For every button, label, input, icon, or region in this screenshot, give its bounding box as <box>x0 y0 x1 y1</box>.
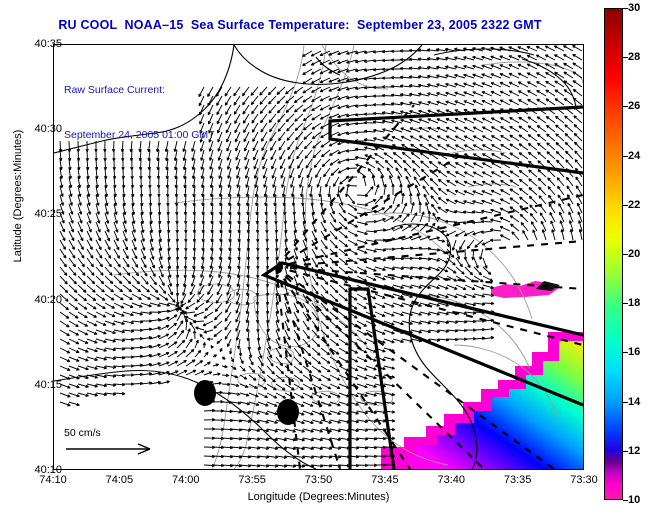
current-vector <box>482 74 492 78</box>
current-vector <box>527 55 537 60</box>
current-vector <box>78 294 87 301</box>
current-vector <box>289 159 294 169</box>
current-vector <box>217 339 222 344</box>
current-vector <box>240 366 245 371</box>
current-vector <box>236 321 240 331</box>
current-vector <box>559 203 564 213</box>
current-vector <box>541 221 546 231</box>
current-vector <box>528 117 537 123</box>
current-vector <box>87 330 97 334</box>
current-vector <box>393 312 404 316</box>
current-vector <box>226 123 231 133</box>
current-vector <box>105 276 113 284</box>
current-vector <box>438 198 447 205</box>
current-vector <box>168 276 172 287</box>
current-vector <box>473 191 483 195</box>
current-vector <box>346 159 357 162</box>
current-vector <box>547 152 555 159</box>
current-vector <box>568 203 573 213</box>
current-vector <box>269 105 276 113</box>
current-vector <box>500 65 510 69</box>
current-vector <box>464 83 474 87</box>
current-vector <box>87 366 98 369</box>
current-vector <box>548 187 555 196</box>
current-vector <box>575 160 582 169</box>
current-vector <box>215 303 222 312</box>
current-vector <box>519 179 528 186</box>
current-vector <box>177 340 185 348</box>
current-vector <box>536 55 546 60</box>
current-vector <box>177 360 187 366</box>
current-vector <box>574 125 582 133</box>
current-vector <box>252 123 258 132</box>
current-vector <box>465 285 475 290</box>
current-vector <box>509 100 519 105</box>
current-vector <box>527 73 537 78</box>
current-vector <box>401 119 412 123</box>
current-vector <box>574 133 582 141</box>
current-vector <box>555 116 564 123</box>
current-vector <box>105 249 111 258</box>
current-vector <box>482 145 492 150</box>
current-vector <box>258 402 268 406</box>
current-vector <box>273 177 276 188</box>
current-vector <box>234 96 240 105</box>
colorbar-tick-label: 16 <box>628 346 640 358</box>
current-vector <box>375 330 385 334</box>
x-axis-label: Longitude (Degrees:Minutes) <box>53 491 584 503</box>
current-vector <box>307 168 312 178</box>
current-vector <box>437 119 447 123</box>
current-vector <box>60 312 69 318</box>
current-vector <box>531 222 537 231</box>
current-vector <box>482 200 493 204</box>
current-vector <box>519 126 528 132</box>
current-vector <box>69 330 79 335</box>
current-vector <box>87 249 93 258</box>
current-vector <box>482 101 492 106</box>
current-vector <box>132 294 142 300</box>
current-vector <box>123 249 128 259</box>
current-vector <box>277 96 285 104</box>
current-vector <box>245 168 249 179</box>
current-vector <box>69 222 74 232</box>
current-vector <box>96 339 107 343</box>
current-vector <box>114 249 120 259</box>
current-vector <box>464 145 474 150</box>
current-vector <box>321 357 330 363</box>
current-vector <box>473 127 483 132</box>
current-vector <box>384 339 394 343</box>
colorbar-tick-label: 14 <box>628 396 640 408</box>
current-vector <box>218 141 222 151</box>
current-vector <box>60 231 65 241</box>
current-vector <box>575 151 582 159</box>
x-tick-label: 73:40 <box>437 474 465 486</box>
current-vector <box>324 168 331 177</box>
current-vector <box>510 144 519 150</box>
current-vector <box>357 384 368 388</box>
current-vector <box>357 267 367 272</box>
current-vector <box>546 116 555 123</box>
current-vector <box>193 320 204 323</box>
current-vector <box>437 127 447 132</box>
current-vector <box>528 135 537 141</box>
current-vector <box>482 56 493 60</box>
current-vector <box>236 150 240 160</box>
current-vector <box>519 117 528 123</box>
current-vector <box>60 348 70 353</box>
current-vector <box>501 144 510 150</box>
current-vector <box>254 159 258 169</box>
current-vector <box>168 332 177 339</box>
current-vector <box>222 392 231 395</box>
current-vector <box>330 222 337 231</box>
current-vector <box>235 114 240 124</box>
current-vector <box>114 240 119 250</box>
current-vector <box>123 240 128 250</box>
current-vector <box>69 285 77 293</box>
current-vector <box>491 118 501 123</box>
current-vector <box>480 249 483 260</box>
current-vector <box>261 114 268 123</box>
current-vector <box>481 231 492 234</box>
current-vector <box>321 222 326 232</box>
current-vector <box>393 294 404 298</box>
current-vector <box>346 167 357 170</box>
current-vector <box>320 105 330 110</box>
scale-legend: 50 cm/s <box>64 427 184 461</box>
current-vector <box>410 136 420 141</box>
current-vector <box>491 91 501 96</box>
current-vector <box>460 240 465 250</box>
current-vector <box>545 46 555 51</box>
current-vector <box>455 231 465 236</box>
current-vector <box>263 168 267 178</box>
current-vector <box>294 366 302 373</box>
current-vector <box>96 312 106 317</box>
current-vector <box>464 101 474 105</box>
current-vector <box>330 384 340 389</box>
current-vector <box>96 249 102 258</box>
current-vector <box>285 330 290 340</box>
current-vector <box>375 312 385 316</box>
current-vector <box>428 110 438 114</box>
current-vector <box>244 132 249 142</box>
current-vector <box>114 294 123 300</box>
current-vector <box>500 82 510 87</box>
current-vector <box>537 117 546 123</box>
current-vector <box>114 285 123 292</box>
current-vector <box>123 276 131 284</box>
current-vector <box>330 375 340 380</box>
colorbar-gradient <box>605 9 622 499</box>
current-vector <box>321 240 327 249</box>
current-vector <box>530 213 537 222</box>
current-vector <box>366 366 376 370</box>
current-vector <box>96 285 104 292</box>
current-vector <box>329 78 339 82</box>
current-vector <box>105 321 115 325</box>
y-axis-label: Latitude (Degrees:Minutes) <box>12 86 24 306</box>
current-vector <box>533 230 537 240</box>
current-vector <box>222 383 230 386</box>
current-vector <box>260 105 267 114</box>
current-vector <box>69 267 76 276</box>
current-vector <box>281 168 285 178</box>
current-vector <box>510 153 519 159</box>
current-vector <box>366 267 376 271</box>
current-vector <box>573 63 582 69</box>
current-vector <box>238 339 241 349</box>
current-vector <box>270 141 276 151</box>
current-vector <box>455 127 465 132</box>
current-vector <box>60 393 70 397</box>
current-vector <box>303 78 312 84</box>
annotation-block: Raw Surface Current: September 24, 2005 … <box>64 53 215 173</box>
current-vector <box>207 338 213 341</box>
current-vector <box>491 56 501 60</box>
current-vector <box>500 227 510 232</box>
current-vector <box>482 191 492 195</box>
current-vector <box>195 350 201 357</box>
current-vector <box>565 151 573 159</box>
current-vector <box>277 87 285 95</box>
current-vector <box>168 285 173 295</box>
current-vector <box>321 276 328 285</box>
current-vector <box>521 222 528 231</box>
current-vector <box>403 160 411 168</box>
current-vector <box>298 159 303 169</box>
current-vector <box>320 78 330 83</box>
current-vector <box>114 312 124 316</box>
current-vector <box>159 285 166 294</box>
current-vector <box>511 224 520 231</box>
current-vector <box>280 159 285 169</box>
current-vector <box>159 362 169 366</box>
current-vector <box>419 202 422 213</box>
current-vector <box>204 352 208 357</box>
current-vector <box>464 181 474 186</box>
current-vector <box>286 114 294 122</box>
current-vector <box>261 123 267 132</box>
current-vector <box>69 402 80 406</box>
current-vector <box>542 230 546 241</box>
current-vector <box>474 258 478 268</box>
current-vector <box>105 222 109 232</box>
current-vector <box>321 285 328 294</box>
current-vector <box>60 366 70 370</box>
current-vector <box>537 126 546 133</box>
current-vector <box>249 384 257 388</box>
current-vector <box>267 366 274 374</box>
current-vector <box>384 303 394 307</box>
current-vector <box>330 330 339 337</box>
current-vector <box>123 285 132 292</box>
current-vector <box>311 60 321 65</box>
current-vector <box>78 339 88 343</box>
current-vector <box>159 294 168 300</box>
current-vector <box>294 312 299 322</box>
current-vector <box>69 240 75 250</box>
current-vector <box>132 276 140 284</box>
colorbar-tick-label: 12 <box>628 445 640 457</box>
current-vector <box>573 46 583 52</box>
current-vector <box>446 145 456 150</box>
current-vector <box>105 240 110 250</box>
current-vector <box>258 393 268 398</box>
current-vector <box>465 267 473 275</box>
current-vector <box>276 366 284 374</box>
current-vector <box>193 330 196 339</box>
colorbar-tick-label: 20 <box>628 248 640 260</box>
current-vector <box>320 60 330 65</box>
current-vector <box>244 141 249 151</box>
current-vector <box>447 267 456 273</box>
current-vector <box>141 285 150 292</box>
current-vector <box>218 132 222 142</box>
current-vector <box>303 348 311 356</box>
current-vector <box>573 89 582 96</box>
x-tick-label: 74:00 <box>172 474 200 486</box>
current-vector <box>114 231 118 241</box>
current-vector <box>261 132 267 141</box>
current-vector <box>500 190 510 195</box>
current-vector <box>557 178 564 187</box>
current-vector <box>195 361 203 366</box>
current-vector <box>87 321 97 326</box>
current-vector <box>69 348 79 353</box>
current-vector <box>227 141 231 151</box>
current-vector <box>574 142 582 150</box>
current-vector <box>177 311 182 321</box>
current-vector <box>321 330 329 338</box>
current-vector <box>96 222 100 232</box>
current-vector <box>294 384 303 390</box>
current-vector <box>78 285 86 292</box>
current-vector <box>303 402 313 406</box>
current-vector <box>268 87 276 95</box>
current-vector <box>528 152 537 159</box>
current-vector <box>235 123 240 133</box>
current-vector <box>114 276 122 284</box>
current-vector <box>366 276 376 280</box>
current-vector <box>225 87 231 96</box>
current-vector <box>509 73 519 78</box>
current-vector <box>105 294 114 300</box>
current-vector <box>501 171 510 177</box>
current-vector <box>276 393 286 398</box>
current-vector <box>218 150 222 161</box>
current-vector <box>501 180 511 186</box>
x-tick-label: 73:55 <box>238 474 266 486</box>
current-vector <box>333 177 339 187</box>
current-vector <box>385 160 393 168</box>
current-vector <box>510 180 519 186</box>
current-vector <box>491 181 501 186</box>
current-vector <box>225 330 231 339</box>
current-vector <box>312 231 317 241</box>
current-vector <box>339 393 349 397</box>
current-vector <box>355 156 366 159</box>
current-vector <box>455 101 465 105</box>
current-vector <box>423 186 429 195</box>
current-vector <box>411 152 420 159</box>
current-vector <box>69 357 79 361</box>
colorbar[interactable] <box>604 8 623 500</box>
current-vector <box>473 172 483 177</box>
current-vector <box>217 114 222 124</box>
current-vector <box>240 384 248 387</box>
current-vector <box>565 142 573 150</box>
current-vector <box>78 357 88 361</box>
current-vector <box>500 118 510 123</box>
current-vector <box>245 159 249 169</box>
current-vector <box>218 123 223 133</box>
current-vector <box>446 101 456 105</box>
current-vector <box>510 216 519 222</box>
current-vector <box>69 276 77 284</box>
current-vector <box>518 64 528 69</box>
current-vector <box>227 150 231 160</box>
current-vector <box>141 303 152 307</box>
current-vector <box>329 150 339 155</box>
current-vector <box>509 91 519 96</box>
current-vector <box>529 170 537 177</box>
current-vector <box>269 96 277 104</box>
current-vector <box>545 55 555 60</box>
current-vector <box>321 366 330 372</box>
current-vector <box>556 134 564 141</box>
current-vector <box>455 181 465 186</box>
current-vector <box>464 127 474 132</box>
current-vector <box>373 138 384 141</box>
current-vector <box>260 87 267 95</box>
current-vector <box>473 74 483 78</box>
current-vector <box>168 294 175 302</box>
current-vector <box>414 177 420 186</box>
current-vector <box>549 204 555 213</box>
map-plot-area[interactable]: Raw Surface Current: September 24, 2005 … <box>53 44 584 470</box>
current-vector <box>87 294 96 301</box>
current-vector <box>400 184 403 195</box>
current-vector <box>87 240 92 250</box>
current-vector <box>482 92 492 96</box>
x-tick-label: 73:50 <box>305 474 333 486</box>
current-vector <box>159 343 169 348</box>
current-vector <box>579 229 582 240</box>
current-vector <box>287 123 294 131</box>
current-vector <box>285 339 291 349</box>
current-vector <box>357 231 368 235</box>
current-vector <box>537 90 546 96</box>
current-vector <box>69 366 79 370</box>
current-vector <box>559 212 564 222</box>
current-vector <box>105 285 114 292</box>
current-vector <box>501 153 510 159</box>
current-vector <box>240 393 249 396</box>
current-vector <box>500 235 510 240</box>
current-vector <box>393 152 402 159</box>
current-vector <box>392 128 402 132</box>
current-vector <box>384 357 395 360</box>
current-vector <box>383 137 393 141</box>
current-vector <box>564 72 573 78</box>
current-vector <box>312 258 318 267</box>
current-vector <box>339 348 348 354</box>
current-vector <box>320 87 330 92</box>
current-vector <box>321 321 329 329</box>
